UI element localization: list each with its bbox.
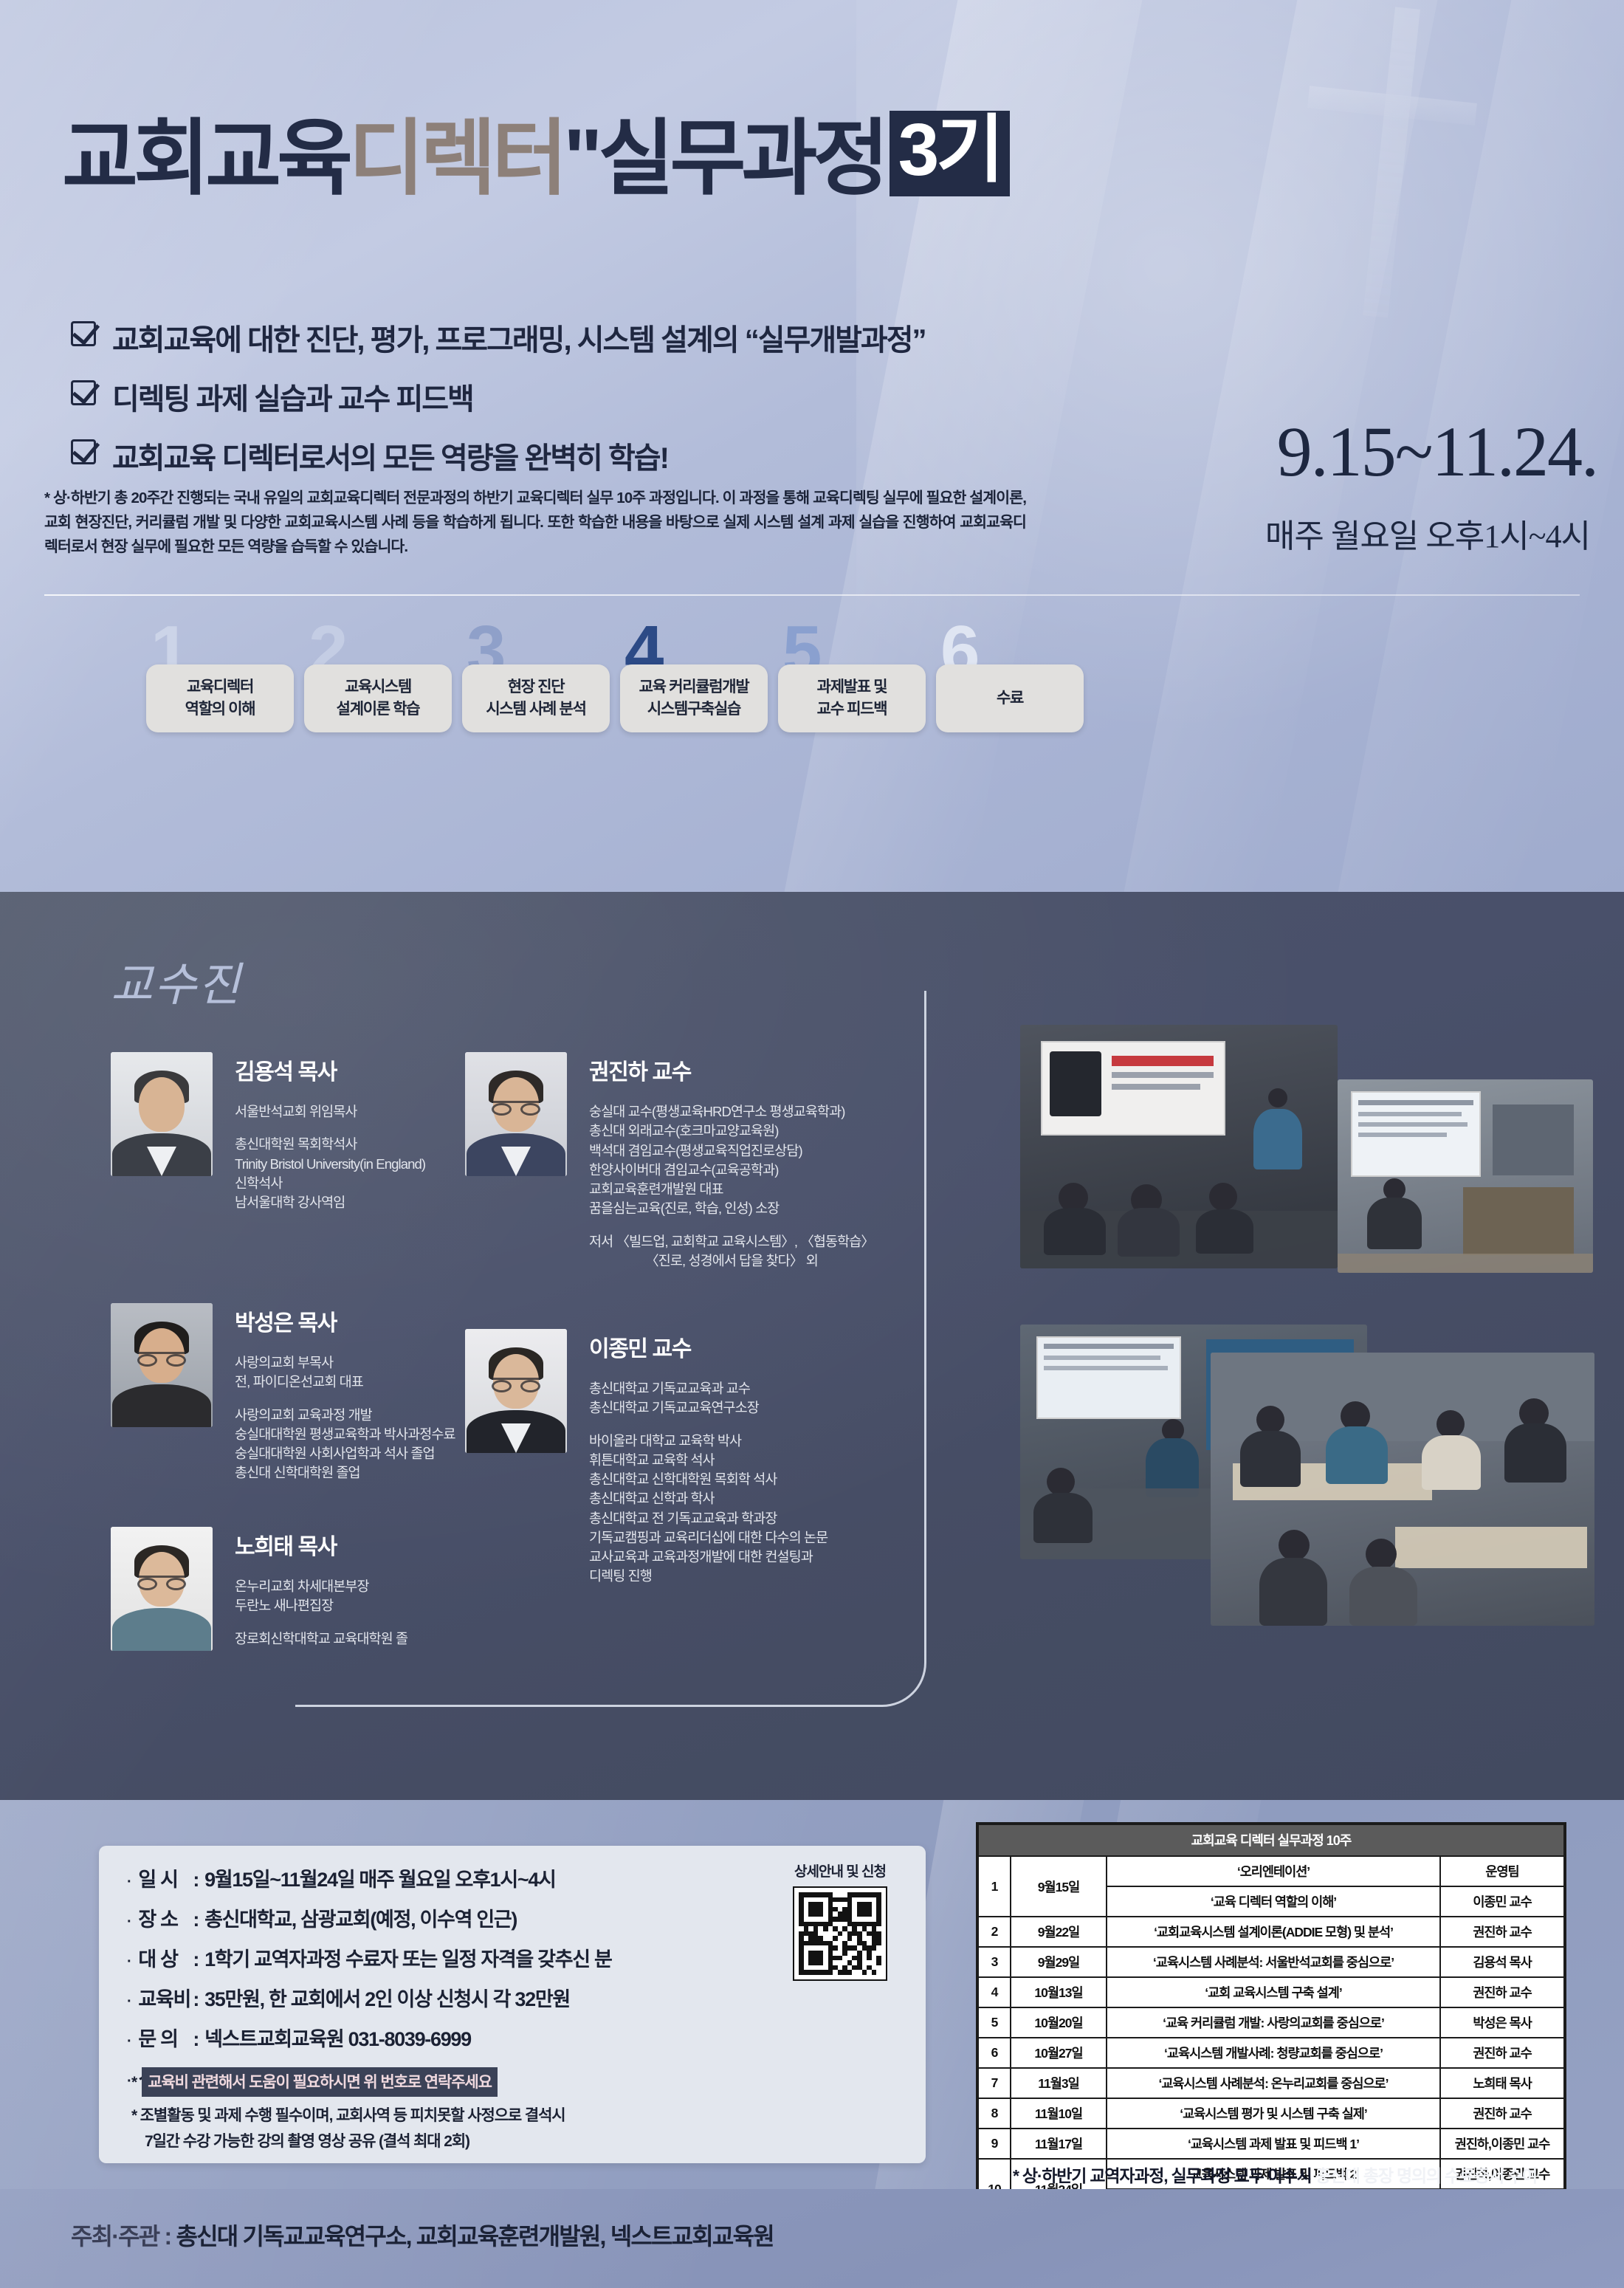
faculty-credential: Trinity Bristol University(in England)	[235, 1155, 425, 1174]
row-number: 8	[978, 2098, 1011, 2129]
avatar	[465, 1052, 567, 1176]
faculty-credential: 기독교캠핑과 교육리더십에 대한 다수의 논문	[589, 1528, 828, 1547]
step-box: 교육시스템설계이론 학습	[304, 664, 452, 732]
faculty-credential: 디렉팅 진행	[589, 1567, 828, 1586]
row-subject: ‘교육시스템 개발사례: 청량교회를 중심으로’	[1107, 2038, 1440, 2068]
faculty-credential: 총신대학교 기독교교육과 교수	[589, 1379, 828, 1398]
faculty-credential: 총신대 외래교수(호크마교양교육원)	[589, 1121, 874, 1141]
info-value: 9월15일~11월24일 매주 월요일 오후1시~4시	[204, 1863, 556, 1892]
step-box: 교육 커리큘럼개발시스템구축실습	[620, 664, 768, 732]
table-row: 711월3일‘교육시스템 사례분석: 온누리교회를 중심으로’노희태 목사	[978, 2068, 1564, 2098]
step-label: 설계이론 학습	[337, 698, 420, 721]
step-label: 교수 피드백	[817, 698, 887, 721]
cohort-badge: 3기	[890, 111, 1011, 196]
row-number: 4	[978, 1977, 1011, 2007]
step-label: 역할의 이해	[185, 698, 255, 721]
divider	[44, 594, 1580, 596]
faculty-section-title: 교수진	[111, 947, 241, 1014]
faculty-card: 권진하 교수 숭실대 교수(평생교육HRD연구소 평생교육학과) 총신대 외래교…	[465, 1052, 874, 1284]
info-key: 교육비	[138, 1983, 191, 2012]
row-lecturer: 권진하 교수	[1440, 1977, 1564, 2007]
hero-section: 교회교육 디렉터 "실무 과정 3기 교회교육에 대한 진단, 평가, 프로그래…	[0, 0, 1624, 892]
date-range: 9.15~11.24.	[1277, 410, 1597, 492]
faculty-credential: 총신대학교 기독교교육연구소장	[589, 1398, 828, 1418]
row-number: 5	[978, 2007, 1011, 2038]
note-highlight: 교육비 관련해서 도움이 필요하시면 위 번호로 연락주세요	[142, 2067, 498, 2097]
step-label: 시스템구축실습	[647, 698, 740, 721]
step-box: 과제발표 및교수 피드백	[778, 664, 926, 732]
benefit-checklist: 교회교육에 대한 진단, 평가, 프로그래밍, 시스템 설계의 “실무개발과정”…	[71, 316, 926, 493]
info-separator: :	[193, 1909, 199, 1931]
classroom-photo	[1020, 1025, 1338, 1268]
bullet-icon: ·	[127, 2033, 131, 2050]
footer-orgs: 총신대 기독교교육연구소, 교회교육훈련개발원, 넥스트교회교육원	[176, 2223, 773, 2250]
date-detail: 매주 월요일 오후1시~4시	[1265, 509, 1590, 557]
poster-root: 교회교육 디렉터 "실무 과정 3기 교회교육에 대한 진단, 평가, 프로그래…	[0, 0, 1624, 2288]
step-item: 3현장 진단시스템 사례 분석	[462, 664, 610, 732]
faculty-credential: 숭실대 교수(평생교육HRD연구소 평생교육학과)	[589, 1102, 874, 1121]
faculty-credentials-group: 사랑의교회 교육과정 개발 숭실대대학원 평생교육학과 박사과정수료 숭실대대학…	[235, 1406, 455, 1483]
info-value: 넥스트교회교육원 031-8039-6999	[204, 2023, 471, 2052]
info-value: 총신대학교, 삼광교회(예정, 이수역 인근)	[204, 1903, 517, 1932]
info-separator: :	[193, 2028, 199, 2051]
avatar	[111, 1303, 213, 1427]
row-lecturer: 노희태 목사	[1440, 2068, 1564, 2098]
row-lecturer: 권진하,이종민 교수	[1440, 2129, 1564, 2159]
faculty-credentials-group: 숭실대 교수(평생교육HRD연구소 평생교육학과) 총신대 외래교수(호크마교양…	[589, 1102, 874, 1219]
faculty-credential: 총신대학원 목회학석사	[235, 1135, 425, 1154]
row-lecturer: 권진하 교수	[1440, 2038, 1564, 2068]
row-date: 11월17일	[1011, 2129, 1107, 2159]
faculty-credential: 숭실대대학원 사회사업학과 석사 졸업	[235, 1444, 455, 1463]
faculty-credential: 교회교육훈련개발원 대표	[589, 1180, 874, 1199]
step-label: 수료	[997, 687, 1023, 710]
info-separator: :	[193, 1988, 199, 2011]
row-date: 9월15일	[1011, 1856, 1107, 1917]
check-icon	[71, 321, 96, 346]
table-row: 811월10일‘교육시스템 평가 및 시스템 구축 실제’권진하 교수	[978, 2098, 1564, 2129]
faculty-credential: 교사교육과 교육과정개발에 대한 컨설팅과	[589, 1547, 828, 1567]
info-row: ·일 시:9월15일~11월24일 매주 월요일 오후1시~4시	[127, 1863, 612, 1892]
qr-block: 상세안내 및 신청	[793, 1861, 887, 1981]
row-date: 10월20일	[1011, 2007, 1107, 2038]
info-row: ·문 의:넥스트교회교육원 031-8039-6999	[127, 2023, 612, 2052]
faculty-credential: 휘튼대학교 교육학 석사	[589, 1451, 828, 1470]
faculty-credentials-group: 서울반석교회 위임목사	[235, 1102, 425, 1121]
row-subject: ‘교육 커리큘럼 개발: 사랑의교회를 중심으로’	[1107, 2007, 1440, 2038]
faculty-credentials-group: 장로회신학대학교 교육대학원 졸	[235, 1629, 407, 1649]
qr-caption: 상세안내 및 신청	[793, 1861, 887, 1880]
step-item: 6수료	[936, 664, 1084, 732]
page-title: 교회교육 디렉터 "실무 과정 3기	[62, 111, 1010, 196]
program-description: * 상·하반기 총 20주간 진행되는 국내 유일의 교회교육디렉터 전문과정의…	[44, 486, 1026, 560]
step-label: 과제발표 및	[817, 676, 887, 698]
row-number: 7	[978, 2068, 1011, 2098]
table-row: 19월15일‘오리엔테이션’운영팀	[978, 1856, 1564, 1886]
faculty-card: 이종민 교수 총신대학교 기독교교육과 교수 총신대학교 기독교교육연구소장 바…	[465, 1329, 828, 1600]
checklist-item-label: 교회교육 디렉터로서의 모든 역량을 완벽히 학습!	[112, 434, 668, 477]
bullet-icon: ·	[127, 1993, 131, 2010]
faculty-name: 박성은 목사	[235, 1305, 455, 1337]
info-key: 문 의	[138, 2023, 191, 2052]
faculty-credential: 총신대학교 신학대학원 목회학 석사	[589, 1470, 828, 1489]
note-line-1: * 조별활동 및 과제 수행 필수이며, 교회사역 등 피치못할 사정으로 결석…	[131, 2104, 884, 2129]
faculty-name: 권진하 교수	[589, 1054, 874, 1086]
step-item: 1교육디렉터역할의 이해	[146, 664, 294, 732]
faculty-credential: 남서울대학 강사역임	[235, 1193, 425, 1212]
row-number: 2	[978, 1917, 1011, 1947]
step-label: 교육시스템	[345, 676, 411, 698]
row-subject: ‘교육시스템 사례분석: 온누리교회를 중심으로’	[1107, 2068, 1440, 2098]
faculty-credential: 한양사이버대 겸임교수(교육공학과)	[589, 1161, 874, 1180]
step-box: 현장 진단시스템 사례 분석	[462, 664, 610, 732]
bullet-icon: ·	[127, 1914, 131, 1931]
faculty-credential: 총신대 신학대학원 졸업	[235, 1463, 455, 1483]
faculty-credential: 전, 파이디온선교회 대표	[235, 1373, 455, 1392]
row-lecturer: 운영팀	[1440, 1856, 1564, 1886]
info-separator: :	[193, 1948, 199, 1971]
faculty-card: 박성은 목사 사랑의교회 부목사 전, 파이디온선교회 대표 사랑의교회 교육과…	[111, 1303, 455, 1497]
faculty-name: 이종민 교수	[589, 1330, 828, 1363]
faculty-publications-group: 저서 〈빌드업, 교회학교 교육시스템〉, 〈협동학습〉 〈진로, 성경에서 답…	[589, 1232, 874, 1271]
schedule-table: 교회교육 디렉터 실무과정 10주 19월15일‘오리엔테이션’운영팀‘교육 디…	[977, 1824, 1565, 2220]
avatar	[111, 1527, 213, 1651]
info-key: 대 상	[138, 1943, 191, 1972]
bullet-icon: ·	[127, 2073, 131, 2090]
footnote-plain: * 상·하반기 교역자과정, 실무과정 모두 이수시	[1013, 2166, 1315, 2185]
cross-icon	[1270, 7, 1513, 317]
row-number: 1	[978, 1856, 1011, 1917]
title-part-4: 과정	[741, 120, 884, 196]
row-subject: ‘교회교육시스템 설계이론(ADDIE 모형) 및 분석’	[1107, 1917, 1440, 1947]
row-subject: ‘교육시스템 과제 발표 및 피드백 1’	[1107, 2129, 1440, 2159]
faculty-credentials-group: 온누리교회 차세대본부장 두란노 새나편집장	[235, 1577, 407, 1616]
row-lecturer: 권진하 교수	[1440, 1917, 1564, 1947]
faculty-credential: 온누리교회 차세대본부장	[235, 1577, 407, 1596]
faculty-credentials-group: 총신대학교 기독교교육과 교수 총신대학교 기독교교육연구소장	[589, 1379, 828, 1418]
faculty-credential: 사랑의교회 부목사	[235, 1353, 455, 1373]
info-value: 35만원, 한 교회에서 2인 이상 신청시 각 32만원	[204, 1983, 570, 2012]
footnote-emphasis: 총신대 총장 명의의 수료증서 수여	[1315, 2166, 1537, 2185]
faculty-credential: 백석대 겸임교수(평생교육직업진로상담)	[589, 1141, 874, 1161]
classroom-photo	[1211, 1353, 1594, 1626]
avatar	[111, 1052, 213, 1176]
faculty-credential: 사랑의교회 교육과정 개발	[235, 1406, 455, 1425]
row-subject: ‘교육시스템 평가 및 시스템 구축 실제’	[1107, 2098, 1440, 2129]
row-number: 9	[978, 2129, 1011, 2159]
step-item: 5과제발표 및교수 피드백	[778, 664, 926, 732]
checklist-item: 교회교육에 대한 진단, 평가, 프로그래밍, 시스템 설계의 “실무개발과정”	[71, 316, 926, 359]
notes-block: *교육비 관련해서 도움이 필요하시면 위 번호로 연락주세요 * 조별활동 및…	[131, 2067, 884, 2154]
checklist-item: 디렉팅 과제 실습과 교수 피드백	[71, 375, 926, 418]
faculty-credential: 두란노 새나편집장	[235, 1596, 407, 1615]
row-number: 6	[978, 2038, 1011, 2068]
faculty-publication: 〈진로, 성경에서 답을 찾다〉 외	[589, 1251, 874, 1271]
bullet-icon: ·	[127, 1874, 131, 1891]
info-key: 장 소	[138, 1903, 191, 1932]
row-number: 3	[978, 1947, 1011, 1977]
info-row: ·대 상:1학기 교역자과정 수료자 또는 일정 자격을 갖추신 분	[127, 1943, 612, 1972]
info-key: 일 시	[138, 1863, 191, 1892]
step-box: 교육디렉터역할의 이해	[146, 664, 294, 732]
faculty-credentials-group: 총신대학원 목회학석사 Trinity Bristol University(i…	[235, 1135, 425, 1212]
table-row: 610월27일‘교육시스템 개발사례: 청량교회를 중심으로’권진하 교수	[978, 2038, 1564, 2068]
schedule-title: 교회교육 디렉터 실무과정 10주	[978, 1824, 1564, 1856]
row-date: 10월27일	[1011, 2038, 1107, 2068]
row-date: 9월29일	[1011, 1947, 1107, 1977]
faculty-credentials-group: 바이올라 대학교 교육학 박사 휘튼대학교 교육학 석사 총신대학교 신학대학원…	[589, 1432, 828, 1587]
row-lecturer: 박성은 목사	[1440, 2007, 1564, 2038]
row-subject: ‘교육시스템 사례분석: 서울반석교회를 중심으로’	[1107, 1947, 1440, 1977]
row-subject: ‘오리엔테이션’	[1107, 1856, 1440, 1886]
faculty-credential: 장로회신학대학교 교육대학원 졸	[235, 1629, 407, 1649]
step-label: 시스템 사례 분석	[486, 698, 585, 721]
row-date: 11월3일	[1011, 2068, 1107, 2098]
info-row: ·장 소:총신대학교, 삼광교회(예정, 이수역 인근)	[127, 1903, 612, 1932]
faculty-card: 노희태 목사 온누리교회 차세대본부장 두란노 새나편집장 장로회신학대학교 교…	[111, 1527, 407, 1662]
faculty-name: 김용석 목사	[235, 1054, 425, 1086]
title-part-2: 디렉터	[348, 120, 563, 196]
faculty-name: 노희태 목사	[235, 1528, 407, 1561]
footer-organizers: 주최·주관 : 총신대 기독교교육연구소, 교회교육훈련개발원, 넥스트교회교육…	[71, 2218, 774, 2252]
faculty-credentials-group: 사랑의교회 부목사 전, 파이디온선교회 대표	[235, 1353, 455, 1392]
table-row: 39월29일‘교육시스템 사례분석: 서울반석교회를 중심으로’김용석 목사	[978, 1947, 1564, 1977]
schedule-footnote: * 상·하반기 교역자과정, 실무과정 모두 이수시 총신대 총장 명의의 수료…	[976, 2162, 1574, 2187]
faculty-credential: 바이올라 대학교 교육학 박사	[589, 1432, 828, 1451]
step-item: 4교육 커리큘럼개발시스템구축실습	[620, 664, 768, 732]
info-value: 1학기 교역자과정 수료자 또는 일정 자격을 갖추신 분	[204, 1943, 611, 1972]
checklist-item: 교회교육 디렉터로서의 모든 역량을 완벽히 학습!	[71, 434, 926, 477]
row-lecturer: 권진하 교수	[1440, 2098, 1564, 2129]
table-row: 911월17일‘교육시스템 과제 발표 및 피드백 1’권진하,이종민 교수	[978, 2129, 1564, 2159]
faculty-credential: 꿈을심는교육(진로, 학습, 인성) 소장	[589, 1199, 874, 1218]
step-box: 수료	[936, 664, 1084, 732]
row-date: 10월13일	[1011, 1977, 1107, 2007]
avatar	[465, 1329, 567, 1453]
qr-code-icon[interactable]	[793, 1886, 887, 1981]
step-item: 2교육시스템설계이론 학습	[304, 664, 452, 732]
row-lecturer: 이종민 교수	[1440, 1886, 1564, 1917]
row-date: 9월22일	[1011, 1917, 1107, 1947]
row-subject: ‘교육 디렉터 역할의 이해’	[1107, 1886, 1440, 1917]
steps-row: 1교육디렉터역할의 이해2교육시스템설계이론 학습3현장 진단시스템 사례 분석…	[146, 664, 1084, 732]
title-part-3: "실무	[563, 120, 741, 196]
table-row: 510월20일‘교육 커리큘럼 개발: 사랑의교회를 중심으로’박성은 목사	[978, 2007, 1564, 2038]
row-subject: ‘교회 교육시스템 구축 설계’	[1107, 1977, 1440, 2007]
table-row: 29월22일‘교회교육시스템 설계이론(ADDIE 모형) 및 분석’권진하 교…	[978, 1917, 1564, 1947]
step-label: 교육 커리큘럼개발	[639, 676, 749, 698]
faculty-credential: 총신대학교 전 기독교교육과 학과장	[589, 1509, 828, 1528]
info-separator: :	[193, 1869, 199, 1892]
faculty-credential: 숭실대대학원 평생교육학과 박사과정수료	[235, 1425, 455, 1444]
faculty-credential: 신학석사	[235, 1174, 425, 1193]
step-label: 현장 진단	[508, 676, 565, 698]
row-lecturer: 김용석 목사	[1440, 1947, 1564, 1977]
faculty-publication: 저서 〈빌드업, 교회학교 교육시스템〉, 〈협동학습〉	[589, 1232, 874, 1251]
info-row: ·교육비:35만원, 한 교회에서 2인 이상 신청시 각 32만원	[127, 1983, 612, 2012]
check-icon	[71, 380, 96, 405]
note-line-2: 7일간 수강 가능한 강의 촬영 영상 공유 (결석 최대 2회)	[145, 2133, 469, 2150]
faculty-credential: 서울반석교회 위임목사	[235, 1102, 425, 1121]
row-date: 11월10일	[1011, 2098, 1107, 2129]
faculty-card: 김용석 목사 서울반석교회 위임목사 총신대학원 목회학석사 Trinity B…	[111, 1052, 425, 1226]
classroom-photo	[1338, 1079, 1593, 1273]
checklist-item-label: 교회교육에 대한 진단, 평가, 프로그래밍, 시스템 설계의 “실무개발과정”	[112, 316, 926, 359]
title-part-1: 교회교육	[62, 120, 348, 196]
faculty-credential: 총신대학교 신학과 학사	[589, 1489, 828, 1508]
table-row: 410월13일‘교회 교육시스템 구축 설계’권진하 교수	[978, 1977, 1564, 2007]
checklist-item-label: 디렉팅 과제 실습과 교수 피드백	[112, 375, 473, 418]
footer-label: 주최·주관 :	[71, 2223, 176, 2250]
asterisk: *	[131, 2074, 137, 2091]
step-label: 교육디렉터	[187, 676, 253, 698]
bullet-icon: ·	[127, 1954, 131, 1971]
check-icon	[71, 439, 96, 464]
